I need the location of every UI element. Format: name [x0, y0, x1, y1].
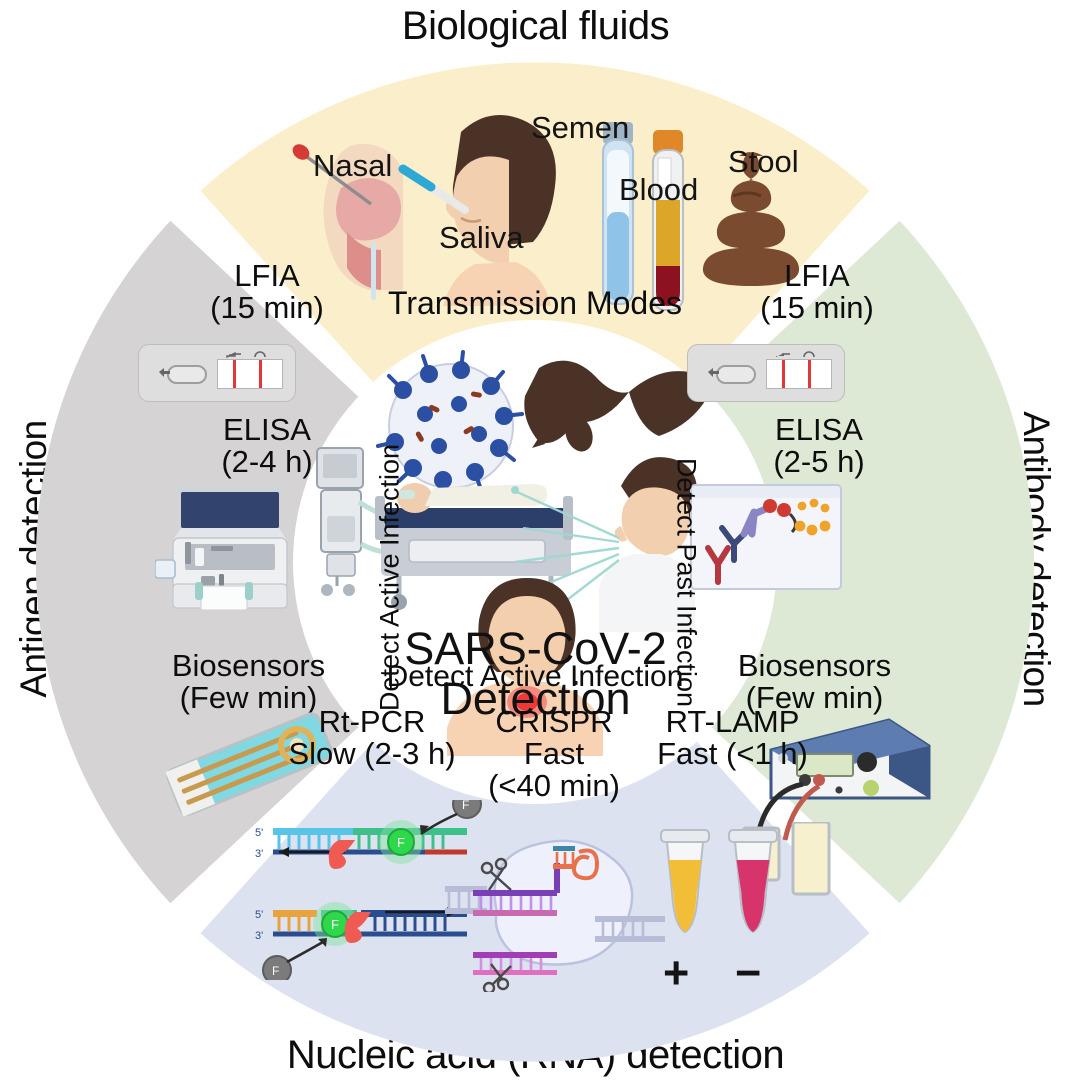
detection-wheel: SARS-CoV-2 Detection	[35, 62, 1035, 1062]
svg-text:5': 5'	[255, 909, 263, 921]
elisa-sandwich-diagram	[692, 486, 840, 588]
lateral-flow-cassette-icon-left	[138, 344, 296, 402]
crispr-speed-2: (<40 min)	[459, 770, 649, 802]
pcr-speed: Slow (2-3 h)	[257, 738, 487, 770]
svg-text:F: F	[462, 800, 469, 812]
lamp-result-negative: −	[735, 947, 761, 999]
bottom-method-pcr: Rt-PCR Slow (2-3 h)	[257, 706, 487, 770]
left-arc-caption: Detect Active Infection	[375, 413, 406, 743]
left-lfia-name: LFIA	[147, 260, 387, 292]
lamp-speed: Fast (<1 h)	[625, 738, 840, 770]
left-elisa-name: ELISA	[147, 414, 387, 446]
bottom-method-crispr: CRISPR Fast (<40 min)	[459, 706, 649, 802]
bottom-method-lamp: RT-LAMP Fast (<1 h)	[625, 706, 840, 770]
right-elisa-time: (2-5 h)	[699, 446, 939, 478]
figure-root: Biological fluids Nucleic acid (RNA) det…	[0, 0, 1071, 1084]
transmission-modes-text: Transmission Modes	[335, 287, 735, 320]
crispr-speed: Fast	[459, 738, 649, 770]
left-method-lfia: LFIA (15 min)	[147, 260, 387, 324]
specimen-label-nasal: Nasal	[313, 148, 392, 184]
bottom-caption: Detect Active Infection	[325, 662, 745, 693]
svg-text:3': 3'	[255, 848, 263, 860]
lamp-result-positive: +	[663, 947, 689, 999]
lamp-tube-negative	[729, 830, 777, 932]
left-elisa-time: (2-4 h)	[147, 446, 387, 478]
svg-text:3': 3'	[255, 930, 263, 942]
transmission-modes-caption: Transmission Modes	[335, 287, 735, 320]
elisa-analyzer-icon	[155, 482, 305, 614]
right-method-elisa: ELISA (2-5 h)	[699, 414, 939, 478]
bottom-caption-text: Detect Active Infection	[325, 662, 745, 693]
pcr-name: Rt-PCR	[257, 706, 487, 738]
lfia-markings-right	[688, 345, 846, 403]
right-lfia-time: (15 min)	[697, 292, 937, 324]
lamp-name: RT-LAMP	[625, 706, 840, 738]
blood-tube-icon	[653, 130, 683, 310]
specimen-label-blood: Blood	[619, 172, 698, 208]
left-method-elisa: ELISA (2-4 h)	[147, 414, 387, 478]
top-axis-label: Biological fluids	[0, 4, 1071, 49]
svg-text:F: F	[397, 835, 405, 850]
right-lfia-name: LFIA	[697, 260, 937, 292]
specimen-label-stool: Stool	[728, 144, 799, 180]
semen-tube-icon	[603, 122, 633, 304]
svg-text:5': 5'	[255, 827, 263, 839]
crispr-name: CRISPR	[459, 706, 649, 738]
elisa-plate-well-icon	[690, 484, 842, 590]
specimen-label-saliva: Saliva	[439, 220, 523, 256]
crispr-cas-icon	[445, 832, 665, 992]
specimen-label-semen: Semen	[531, 110, 629, 146]
scissors-icon-bottom	[484, 964, 511, 992]
svg-text:F: F	[272, 964, 279, 978]
right-elisa-name: ELISA	[699, 414, 939, 446]
left-lfia-time: (15 min)	[147, 292, 387, 324]
svg-text:F: F	[331, 917, 339, 932]
lamp-tube-positive	[661, 830, 709, 932]
right-arc-caption: Detect Past Infection	[671, 418, 702, 748]
lateral-flow-cassette-icon-right	[687, 344, 845, 402]
right-method-lfia: LFIA (15 min)	[697, 260, 937, 324]
lfia-markings-left	[139, 345, 297, 403]
